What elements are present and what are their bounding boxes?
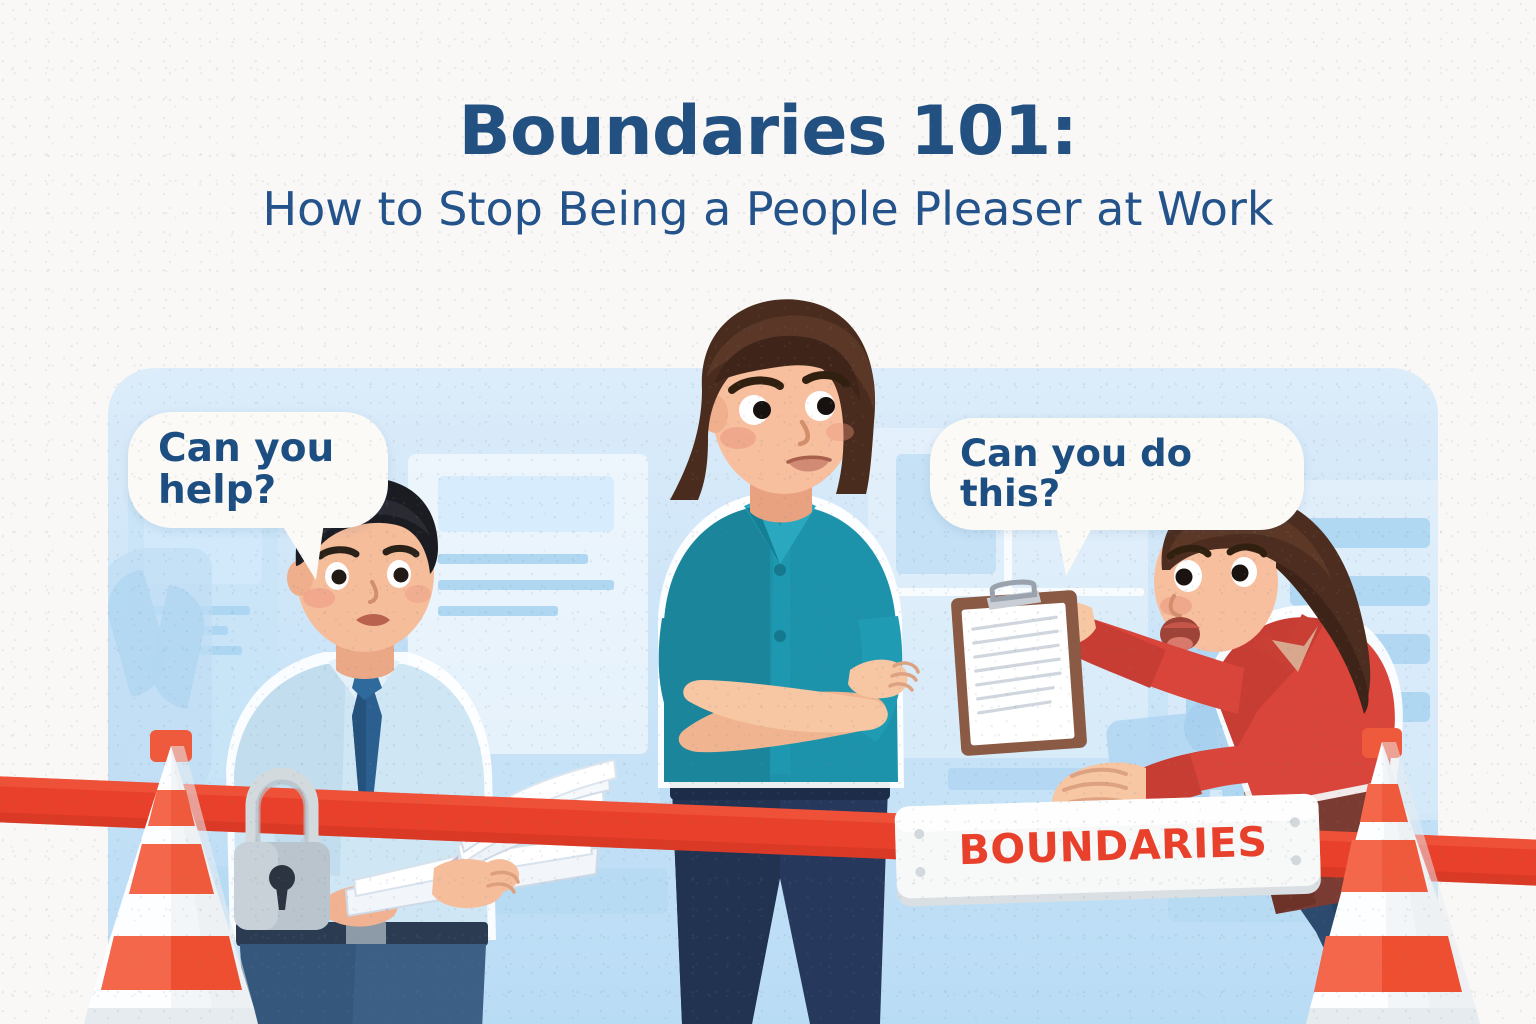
speech-bubble-left-text: Can you help? [158, 426, 334, 513]
speech-bubble-right-text: Can you do this? [960, 432, 1192, 515]
speech-bubble-left: Can you help? [128, 412, 388, 528]
clipboard [952, 580, 1092, 760]
bubble-tail-left [272, 522, 324, 580]
clipboard-illustration [952, 580, 1092, 760]
header-block: Boundaries 101: How to Stop Being a Peop… [0, 96, 1536, 235]
page-subtitle: How to Stop Being a People Pleaser at Wo… [0, 184, 1536, 235]
boundaries-sign-text: BOUNDARIES [947, 817, 1278, 874]
speech-bubble-right: Can you do this? [930, 418, 1304, 530]
boundaries-sign: BOUNDARIES [892, 786, 1332, 926]
poster-canvas: Boundaries 101: How to Stop Being a Peop… [0, 0, 1536, 1024]
traffic-cone-left [62, 728, 282, 1024]
bubble-tail-right [1056, 524, 1094, 576]
page-title: Boundaries 101: [0, 96, 1536, 168]
cone-left-illustration [62, 728, 282, 1024]
woman-head [670, 299, 875, 500]
